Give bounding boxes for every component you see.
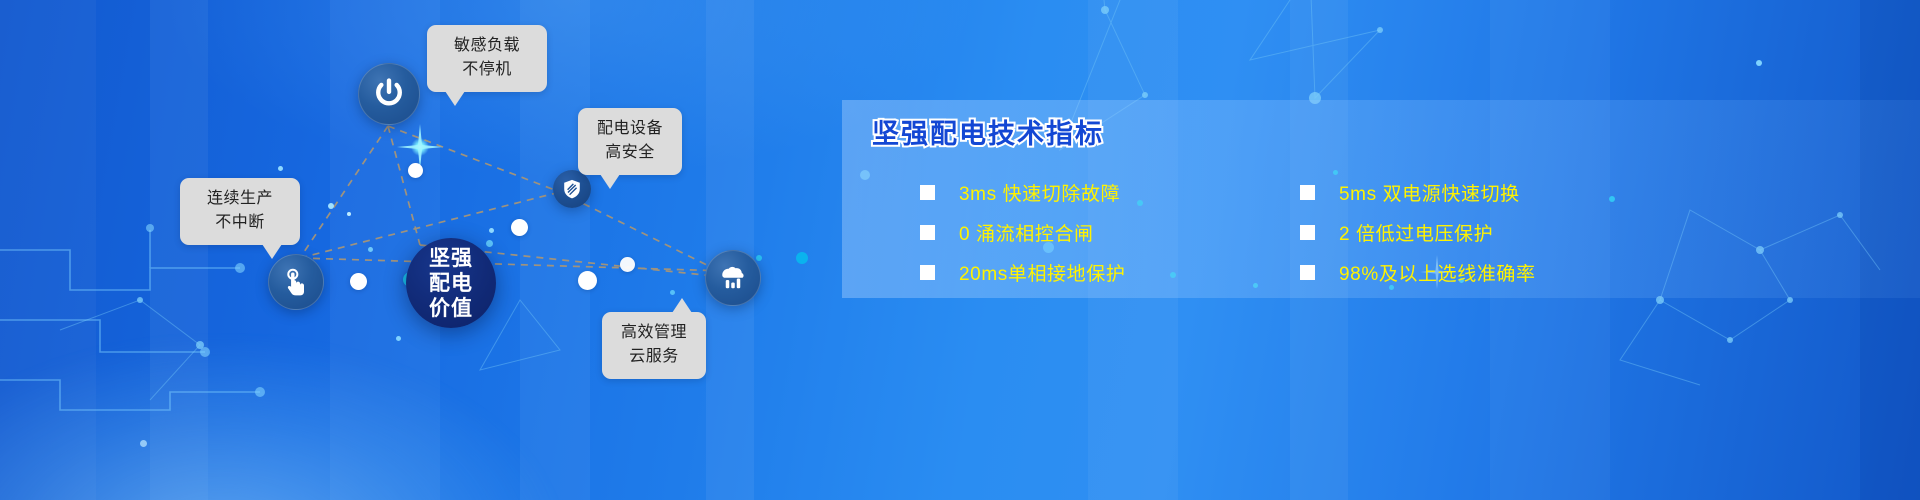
spec-item-label: 3ms 快速切除故障 (959, 179, 1120, 206)
square-bullet-icon (1300, 185, 1315, 200)
center-value-label: 坚强 配电 价值 (429, 246, 473, 321)
callout-tail (262, 244, 282, 259)
decor-dot (796, 252, 808, 264)
square-bullet-icon (920, 225, 935, 240)
spec-panel: 坚强配电技术指标 3ms 快速切除故障 5ms 双电源快速切换 0 涌流相控合闸… (842, 100, 1920, 298)
callout-line-1: 高效管理 (616, 321, 692, 345)
spec-item-label: 5ms 双电源快速切换 (1339, 179, 1520, 206)
callout-line-2: 不中断 (194, 211, 286, 235)
decor-dot (670, 290, 675, 295)
callout-tail (672, 298, 692, 313)
spec-item: 2 倍低过电压保护 (1300, 212, 1670, 252)
decor-dot (489, 228, 494, 233)
decor-dot (756, 255, 762, 261)
callout-line-2: 高安全 (592, 141, 668, 165)
link-hub-dot (408, 163, 423, 178)
decor-dot (396, 336, 401, 341)
touch-node[interactable] (268, 254, 324, 310)
spec-item: 20ms单相接地保护 (920, 252, 1290, 292)
callout-line-1: 敏感负载 (441, 34, 533, 58)
shield-node[interactable] (553, 170, 591, 208)
promo-banner: 坚强 配电 价值 敏感负载 不停机 配电设备 高安全 连续生产 不中断 高效管理… (0, 0, 1920, 500)
callout-tail (600, 174, 620, 189)
callout-line-2: 云服务 (616, 345, 692, 369)
link-hub-dot (350, 273, 367, 290)
link-hub-dot (511, 219, 528, 236)
spec-item-label: 20ms单相接地保护 (959, 259, 1125, 286)
decor-dot (1756, 60, 1762, 66)
square-bullet-icon (1300, 265, 1315, 280)
decor-dot (328, 203, 334, 209)
spec-list: 3ms 快速切除故障 5ms 双电源快速切换 0 涌流相控合闸 2 倍低过电压保… (920, 172, 1920, 292)
link-hub-dot (578, 271, 597, 290)
decor-dot (368, 247, 373, 252)
spec-item-label: 0 涌流相控合闸 (959, 219, 1094, 246)
power-icon (372, 77, 406, 111)
spec-item-label: 2 倍低过电压保护 (1339, 219, 1493, 246)
spec-item: 3ms 快速切除故障 (920, 172, 1290, 212)
decor-dot (486, 240, 493, 247)
chart-node[interactable] (705, 250, 761, 306)
link-hub-dot (620, 257, 635, 272)
square-bullet-icon (920, 265, 935, 280)
bar-chart-icon (718, 263, 748, 293)
callout-line-1: 配电设备 (592, 117, 668, 141)
decor-dot (140, 440, 147, 447)
spec-item-label: 98%及以上选线准确率 (1339, 259, 1536, 286)
center-value-node: 坚强 配电 价值 (406, 238, 496, 328)
spec-item: 98%及以上选线准确率 (1300, 252, 1670, 292)
panel-title: 坚强配电技术指标 (872, 112, 1104, 151)
spec-item: 5ms 双电源快速切换 (1300, 172, 1670, 212)
callout-equipment-safety: 配电设备 高安全 (578, 108, 682, 175)
power-node[interactable] (358, 63, 420, 125)
callout-cloud-service: 高效管理 云服务 (602, 312, 706, 379)
shield-icon (561, 178, 583, 200)
decor-dot (278, 166, 283, 171)
callout-line-2: 不停机 (441, 58, 533, 82)
decor-dot (347, 212, 351, 216)
callout-sensitive-load: 敏感负载 不停机 (427, 25, 547, 92)
square-bullet-icon (920, 185, 935, 200)
hand-touch-icon (280, 266, 312, 298)
spec-item: 0 涌流相控合闸 (920, 212, 1290, 252)
callout-continuous-production: 连续生产 不中断 (180, 178, 300, 245)
sparkle-icon (397, 124, 443, 170)
square-bullet-icon (1300, 225, 1315, 240)
callout-line-1: 连续生产 (194, 187, 286, 211)
background-bottom-glow (0, 340, 560, 500)
callout-tail (445, 91, 465, 106)
